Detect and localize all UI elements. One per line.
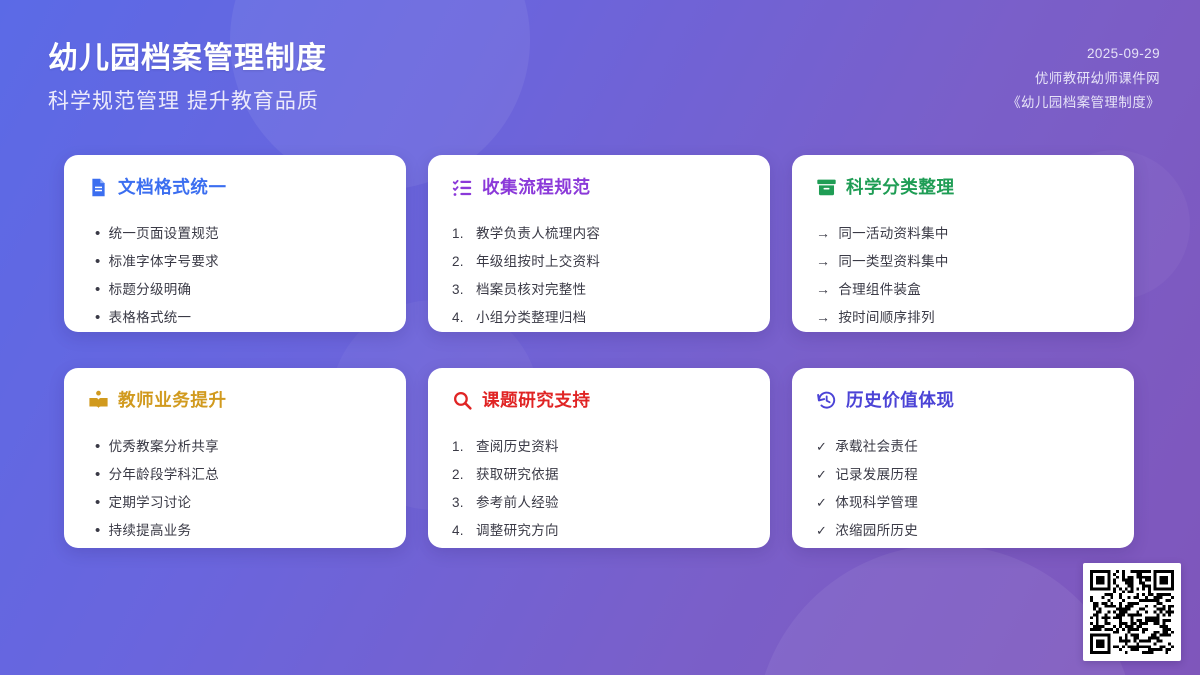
- list-item: •标题分级明确: [88, 276, 382, 303]
- list-item-label: 表格格式统一: [109, 304, 192, 331]
- arrow-icon: →: [816, 304, 830, 331]
- qr-code[interactable]: [1083, 563, 1181, 661]
- list-item: 4.调整研究方向: [452, 517, 746, 544]
- card-historic-value[interactable]: 历史价值体现✓承载社会责任✓记录发展历程✓体现科学管理✓浓缩园所历史: [792, 368, 1134, 548]
- list-marker-number: 3.: [452, 276, 468, 303]
- list-item: •优秀教案分析共享: [88, 433, 382, 460]
- list-marker-bullet: •: [88, 304, 101, 331]
- card-classify[interactable]: 科学分类整理→同一活动资料集中→同一类型资料集中→合理组件装盒→按时间顺序排列: [792, 155, 1134, 332]
- slide-header: 幼儿园档案管理制度 科学规范管理 提升教育品质 2025-09-29 优师教研幼…: [0, 0, 1200, 140]
- header-text-group: 幼儿园档案管理制度 科学规范管理 提升教育品质: [48, 40, 327, 114]
- history-clock-icon: [816, 390, 837, 411]
- list-marker-number: 4.: [452, 517, 468, 544]
- list-marker-bullet: •: [88, 433, 101, 460]
- card-title: 科学分类整理: [846, 178, 955, 197]
- list-marker-number: 4.: [452, 304, 468, 331]
- meta-site: 优师教研幼师课件网: [1007, 69, 1160, 89]
- list-item: ✓体现科学管理: [816, 489, 1110, 516]
- card-item-list: •统一页面设置规范•标准字体字号要求•标题分级明确•表格格式统一: [88, 220, 382, 331]
- archive-box-icon: [816, 177, 837, 198]
- list-marker-number: 3.: [452, 489, 468, 516]
- list-item: →按时间顺序排列: [816, 304, 1110, 331]
- meta-doc-name: 《幼儿园档案管理制度》: [1007, 93, 1160, 113]
- card-research-support[interactable]: 课题研究支持1.查阅历史资料2.获取研究依据3.参考前人经验4.调整研究方向: [428, 368, 770, 548]
- list-item-label: 标题分级明确: [109, 276, 192, 303]
- list-item: →合理组件装盒: [816, 276, 1110, 303]
- arrow-icon: →: [816, 248, 830, 275]
- card-teacher-growth[interactable]: 教师业务提升•优秀教案分析共享•分年龄段学科汇总•定期学习讨论•持续提高业务: [64, 368, 406, 548]
- card-title: 文档格式统一: [118, 178, 227, 197]
- arrow-icon: →: [816, 276, 830, 303]
- list-item-label: 体现科学管理: [835, 489, 918, 516]
- list-marker-number: 1.: [452, 433, 468, 460]
- slide-root: 幼儿园档案管理制度 科学规范管理 提升教育品质 2025-09-29 优师教研幼…: [0, 0, 1200, 675]
- list-item-label: 参考前人经验: [476, 489, 559, 516]
- list-item: 4.小组分类整理归档: [452, 304, 746, 331]
- list-marker-bullet: •: [88, 517, 101, 544]
- list-item: 1.查阅历史资料: [452, 433, 746, 460]
- list-item: •统一页面设置规范: [88, 220, 382, 247]
- list-item-label: 教学负责人梳理内容: [476, 220, 600, 247]
- list-item: 3.档案员核对完整性: [452, 276, 746, 303]
- list-item: •定期学习讨论: [88, 489, 382, 516]
- list-marker-number: 2.: [452, 248, 468, 275]
- card-header: 教师业务提升: [88, 390, 382, 411]
- list-item-label: 同一类型资料集中: [838, 248, 948, 275]
- list-marker-number: 1.: [452, 220, 468, 247]
- page-title: 幼儿园档案管理制度: [48, 40, 327, 78]
- card-title: 课题研究支持: [482, 391, 591, 410]
- list-item: ✓记录发展历程: [816, 461, 1110, 488]
- open-book-icon: [88, 390, 109, 411]
- card-title: 教师业务提升: [118, 391, 227, 410]
- card-header: 收集流程规范: [452, 177, 746, 198]
- check-icon: ✓: [816, 433, 827, 460]
- list-item: →同一活动资料集中: [816, 220, 1110, 247]
- list-item-label: 调整研究方向: [476, 517, 559, 544]
- list-marker-bullet: •: [88, 461, 101, 488]
- header-meta: 2025-09-29 优师教研幼师课件网 《幼儿园档案管理制度》: [1007, 40, 1160, 113]
- list-item-label: 优秀教案分析共享: [109, 433, 219, 460]
- ordered-list-icon: [452, 177, 473, 198]
- list-item-label: 获取研究依据: [476, 461, 559, 488]
- list-item: •持续提高业务: [88, 517, 382, 544]
- list-item-label: 档案员核对完整性: [476, 276, 586, 303]
- list-marker-bullet: •: [88, 248, 101, 275]
- check-icon: ✓: [816, 489, 827, 516]
- list-item-label: 按时间顺序排列: [838, 304, 935, 331]
- card-doc-format[interactable]: 文档格式统一•统一页面设置规范•标准字体字号要求•标题分级明确•表格格式统一: [64, 155, 406, 332]
- list-item-label: 分年龄段学科汇总: [109, 461, 219, 488]
- list-item-label: 标准字体字号要求: [109, 248, 219, 275]
- list-item-label: 同一活动资料集中: [838, 220, 948, 247]
- list-marker-bullet: •: [88, 276, 101, 303]
- card-item-list: →同一活动资料集中→同一类型资料集中→合理组件装盒→按时间顺序排列: [816, 220, 1110, 331]
- list-item: ✓浓缩园所历史: [816, 517, 1110, 544]
- list-item-label: 小组分类整理归档: [476, 304, 586, 331]
- card-header: 文档格式统一: [88, 177, 382, 198]
- list-item: ✓承载社会责任: [816, 433, 1110, 460]
- card-item-list: ✓承载社会责任✓记录发展历程✓体现科学管理✓浓缩园所历史: [816, 433, 1110, 544]
- card-collect-process[interactable]: 收集流程规范1.教学负责人梳理内容2.年级组按时上交资料3.档案员核对完整性4.…: [428, 155, 770, 332]
- qr-code-image: [1090, 570, 1174, 654]
- list-item: 2.年级组按时上交资料: [452, 248, 746, 275]
- list-item: •分年龄段学科汇总: [88, 461, 382, 488]
- search-icon: [452, 390, 473, 411]
- list-item: →同一类型资料集中: [816, 248, 1110, 275]
- list-item-label: 定期学习讨论: [109, 489, 192, 516]
- list-item-label: 统一页面设置规范: [109, 220, 219, 247]
- card-title: 历史价值体现: [846, 391, 955, 410]
- card-item-list: 1.教学负责人梳理内容2.年级组按时上交资料3.档案员核对完整性4.小组分类整理…: [452, 220, 746, 331]
- card-title: 收集流程规范: [482, 178, 591, 197]
- cards-grid: 文档格式统一•统一页面设置规范•标准字体字号要求•标题分级明确•表格格式统一收集…: [64, 155, 1136, 548]
- list-item: 3.参考前人经验: [452, 489, 746, 516]
- card-header: 课题研究支持: [452, 390, 746, 411]
- check-icon: ✓: [816, 517, 827, 544]
- list-item-label: 浓缩园所历史: [835, 517, 918, 544]
- list-item-label: 持续提高业务: [109, 517, 192, 544]
- list-item: 2.获取研究依据: [452, 461, 746, 488]
- list-item: 1.教学负责人梳理内容: [452, 220, 746, 247]
- meta-date: 2025-09-29: [1007, 44, 1160, 64]
- page-subtitle: 科学规范管理 提升教育品质: [48, 89, 327, 114]
- list-item-label: 查阅历史资料: [476, 433, 559, 460]
- list-item-label: 承载社会责任: [835, 433, 918, 460]
- list-marker-number: 2.: [452, 461, 468, 488]
- list-marker-bullet: •: [88, 220, 101, 247]
- document-icon: [88, 177, 109, 198]
- list-item-label: 记录发展历程: [835, 461, 918, 488]
- list-marker-bullet: •: [88, 489, 101, 516]
- list-item: •标准字体字号要求: [88, 248, 382, 275]
- card-header: 科学分类整理: [816, 177, 1110, 198]
- card-header: 历史价值体现: [816, 390, 1110, 411]
- list-item-label: 合理组件装盒: [838, 276, 921, 303]
- list-item-label: 年级组按时上交资料: [476, 248, 600, 275]
- list-item: •表格格式统一: [88, 304, 382, 331]
- check-icon: ✓: [816, 461, 827, 488]
- card-item-list: 1.查阅历史资料2.获取研究依据3.参考前人经验4.调整研究方向: [452, 433, 746, 544]
- arrow-icon: →: [816, 220, 830, 247]
- card-item-list: •优秀教案分析共享•分年龄段学科汇总•定期学习讨论•持续提高业务: [88, 433, 382, 544]
